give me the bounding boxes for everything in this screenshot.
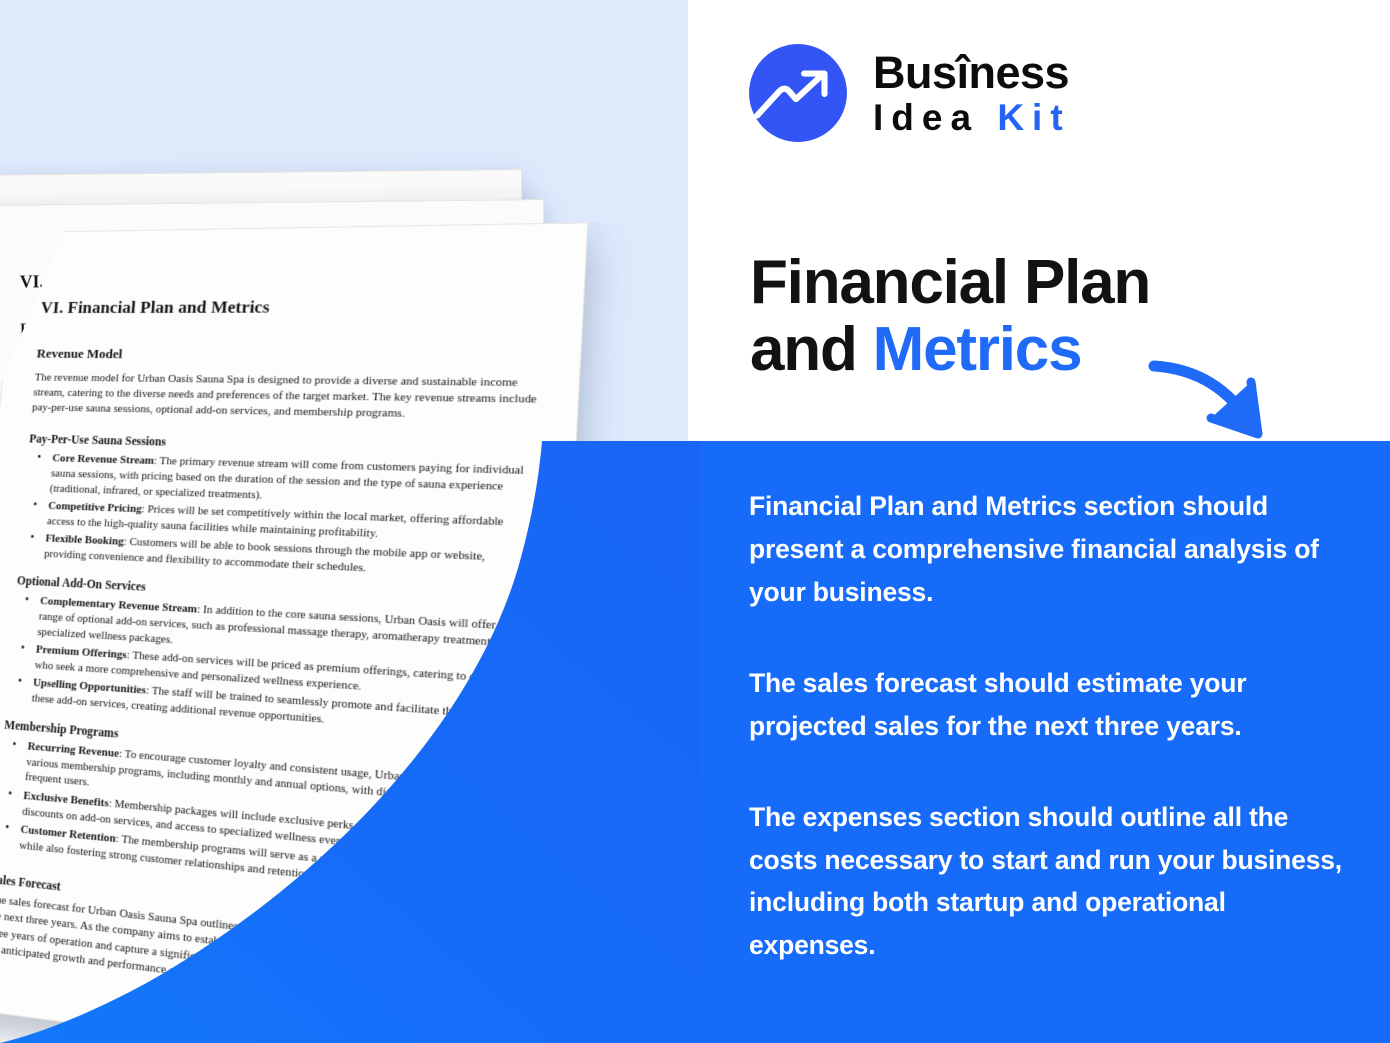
logo-word-idea-kit: Idea Kit — [873, 99, 1071, 136]
panel-paragraph-3: The expenses section should outline all … — [749, 796, 1349, 968]
page-title-line-2-dark: and — [750, 315, 873, 384]
page-title-line-2-accent: Metrics — [873, 315, 1082, 384]
logo-wordmark: Busîness Idea Kit — [873, 50, 1071, 136]
curved-down-right-arrow-icon — [1148, 352, 1278, 452]
panel-curved-edge — [0, 441, 690, 1043]
logo-word-business: Busîness — [873, 50, 1071, 95]
logo-word-idea: Idea — [873, 97, 997, 138]
revenue-model-paragraph: The revenue model for Urban Oasis Sauna … — [31, 371, 540, 426]
panel-paragraph-2: The sales forecast should estimate your … — [749, 662, 1349, 748]
logo-word-kit: Kit — [997, 97, 1070, 138]
trending-up-chart-icon — [747, 42, 849, 144]
page-title-line-1: Financial Plan — [750, 248, 1150, 317]
brand-logo[interactable]: Busîness Idea Kit — [747, 42, 1071, 144]
panel-description-text: Financial Plan and Metrics section shoul… — [749, 485, 1349, 967]
document-heading: VI. Financial Plan and Metrics — [40, 295, 545, 318]
revenue-model-heading: Revenue Model — [36, 346, 542, 366]
panel-paragraph-1: Financial Plan and Metrics section shoul… — [749, 485, 1349, 614]
